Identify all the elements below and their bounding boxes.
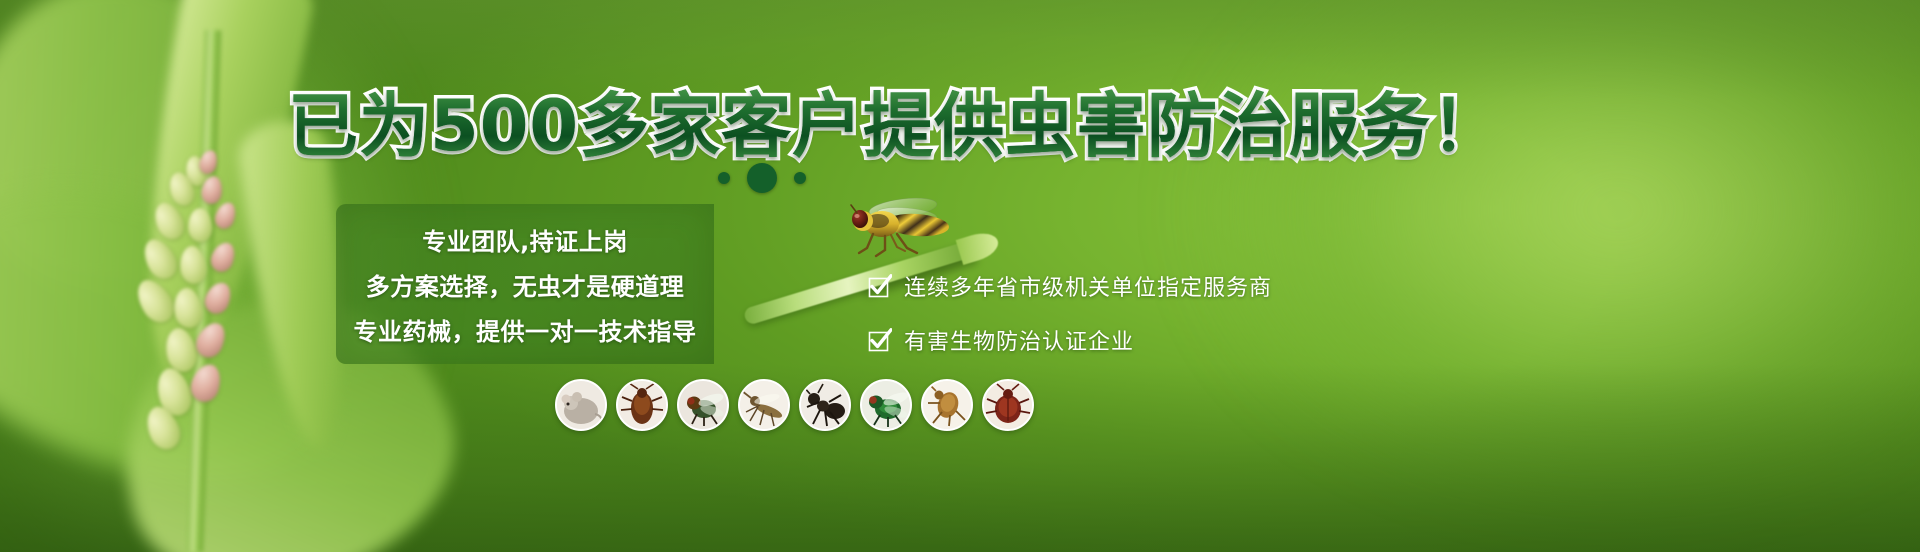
promo-line-2: 多方案选择，无虫才是硬道理 [366,267,685,302]
banner-headline: 已为500多家客户提供虫害防治服务！ 已为500多家客户提供虫害防治服务！ [288,84,1298,168]
promo-line-1: 专业团队,持证上岗 [422,222,628,257]
blowfly-icon[interactable] [860,379,912,431]
check-box-icon [868,274,892,298]
headline-fill: 已为500多家客户提供虫害防治服务！ [288,84,1502,168]
decorative-dots [718,163,806,193]
fly-icon[interactable] [677,379,729,431]
cockroach-icon[interactable] [616,379,668,431]
mosquito-icon[interactable] [738,379,790,431]
pest-icon-strip [555,379,1034,431]
promo-line-3: 专业药械，提供一对一技术指导 [354,312,697,347]
check-row: 连续多年省市级机关单位指定服务商 [868,270,1272,302]
hoverfly-image [845,196,963,258]
plant-flower-spike [140,150,280,450]
credential-checklist: 连续多年省市级机关单位指定服务商 有害生物防治认证企业 [868,270,1272,356]
flea-icon[interactable] [921,379,973,431]
check-row: 有害生物防治认证企业 [868,324,1272,356]
promo-banner: 已为500多家客户提供虫害防治服务！ 已为500多家客户提供虫害防治服务！ 专业… [0,0,1920,552]
bedbug-icon[interactable] [982,379,1034,431]
check-label: 有害生物防治认证企业 [904,324,1134,356]
dot-large-center [747,163,777,193]
dot-small-right [794,172,806,184]
check-label: 连续多年省市级机关单位指定服务商 [904,270,1272,302]
check-box-icon [868,328,892,352]
ant-icon[interactable] [799,379,851,431]
mouse-icon[interactable] [555,379,607,431]
promo-text-box: 专业团队,持证上岗 多方案选择，无虫才是硬道理 专业药械，提供一对一技术指导 [336,204,714,364]
dot-small-left [718,172,730,184]
